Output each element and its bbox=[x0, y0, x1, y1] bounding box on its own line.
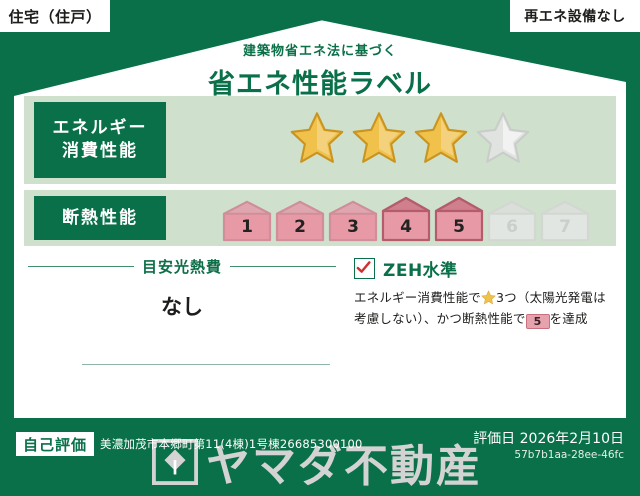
divider-rule-right bbox=[230, 266, 336, 267]
energy-star-rating bbox=[289, 110, 531, 164]
zeh-desc-part3: を達成 bbox=[550, 311, 588, 326]
star-filled-icon bbox=[289, 110, 345, 164]
insulation-grade-6: 6 bbox=[487, 200, 537, 242]
insulation-grade-5: 5 bbox=[434, 196, 484, 242]
star-filled-icon bbox=[351, 110, 407, 164]
utility-cost-title: 目安光熱費 bbox=[142, 256, 222, 277]
zeh-heading: ZEH水準 bbox=[354, 256, 616, 281]
insulation-grade-value: 1 bbox=[222, 217, 272, 237]
star-filled-icon bbox=[413, 110, 469, 164]
insulation-grade-value: 4 bbox=[381, 217, 431, 237]
zeh-grade-chip: 5 bbox=[526, 314, 550, 329]
energy-performance-label: エネルギー 消費性能 bbox=[34, 102, 166, 178]
insulation-grade-7: 7 bbox=[540, 200, 590, 242]
insulation-grade-1: 1 bbox=[222, 200, 272, 242]
energy-label-line1: エネルギー bbox=[53, 117, 148, 140]
utility-cost-value: なし bbox=[28, 291, 336, 321]
insulation-performance-label: 断熱性能 bbox=[34, 196, 166, 240]
divider-rule-left bbox=[28, 266, 134, 267]
insulation-label-line1: 断熱性能 bbox=[62, 207, 138, 230]
zeh-checkbox-icon bbox=[354, 258, 375, 279]
insulation-grade-2: 2 bbox=[275, 200, 325, 242]
zeh-title: ZEH水準 bbox=[383, 256, 458, 281]
zeh-block: ZEH水準 エネルギー消費性能で3つ（太陽光発電は考慮しない）、かつ断熱性能で5… bbox=[354, 256, 616, 329]
energy-label-poster: 住宅（住戸） 再エネ設備なし 建築物省エネ法に基づく 省エネ性能ラベル エネルギ… bbox=[0, 0, 640, 480]
insulation-grade-value: 6 bbox=[487, 217, 537, 237]
energy-label-line2: 消費性能 bbox=[62, 140, 138, 163]
insulation-grade-value: 7 bbox=[540, 217, 590, 237]
property-address: 美濃加茂市本郷町第11(4棟)1号棟26685300100 bbox=[100, 436, 363, 452]
insulation-grade-3: 3 bbox=[328, 200, 378, 242]
zeh-inline-star-icon bbox=[481, 290, 496, 305]
insulation-grade-value: 2 bbox=[275, 217, 325, 237]
utility-cost-underline bbox=[82, 364, 330, 365]
insulation-grade-value: 3 bbox=[328, 217, 378, 237]
label-content: エネルギー 消費性能 断熱性能 1234567 目安光熱費 なし ZEH水準 エ… bbox=[24, 96, 616, 406]
utility-cost-divider: 目安光熱費 bbox=[28, 256, 336, 276]
insulation-grade-4: 4 bbox=[381, 196, 431, 242]
star-empty-icon bbox=[475, 110, 531, 164]
footer: 自己評価 美濃加茂市本郷町第11(4棟)1号棟26685300100 評価日 2… bbox=[0, 418, 640, 480]
badge-renewable-equipment: 再エネ設備なし bbox=[510, 0, 640, 32]
zeh-description: エネルギー消費性能で3つ（太陽光発電は考慮しない）、かつ断熱性能で5を達成 bbox=[354, 288, 616, 329]
evaluation-id: 57b7b1aa-28ee-46fc bbox=[514, 449, 624, 461]
badge-housing-type: 住宅（住戸） bbox=[0, 0, 110, 32]
self-evaluation-badge: 自己評価 bbox=[16, 432, 94, 456]
evaluation-date: 評価日 2026年2月10日 bbox=[473, 428, 624, 448]
insulation-grade-value: 5 bbox=[434, 217, 484, 237]
insulation-grade-scale: 1234567 bbox=[222, 196, 590, 242]
zeh-desc-part1: エネルギー消費性能で bbox=[354, 290, 481, 305]
